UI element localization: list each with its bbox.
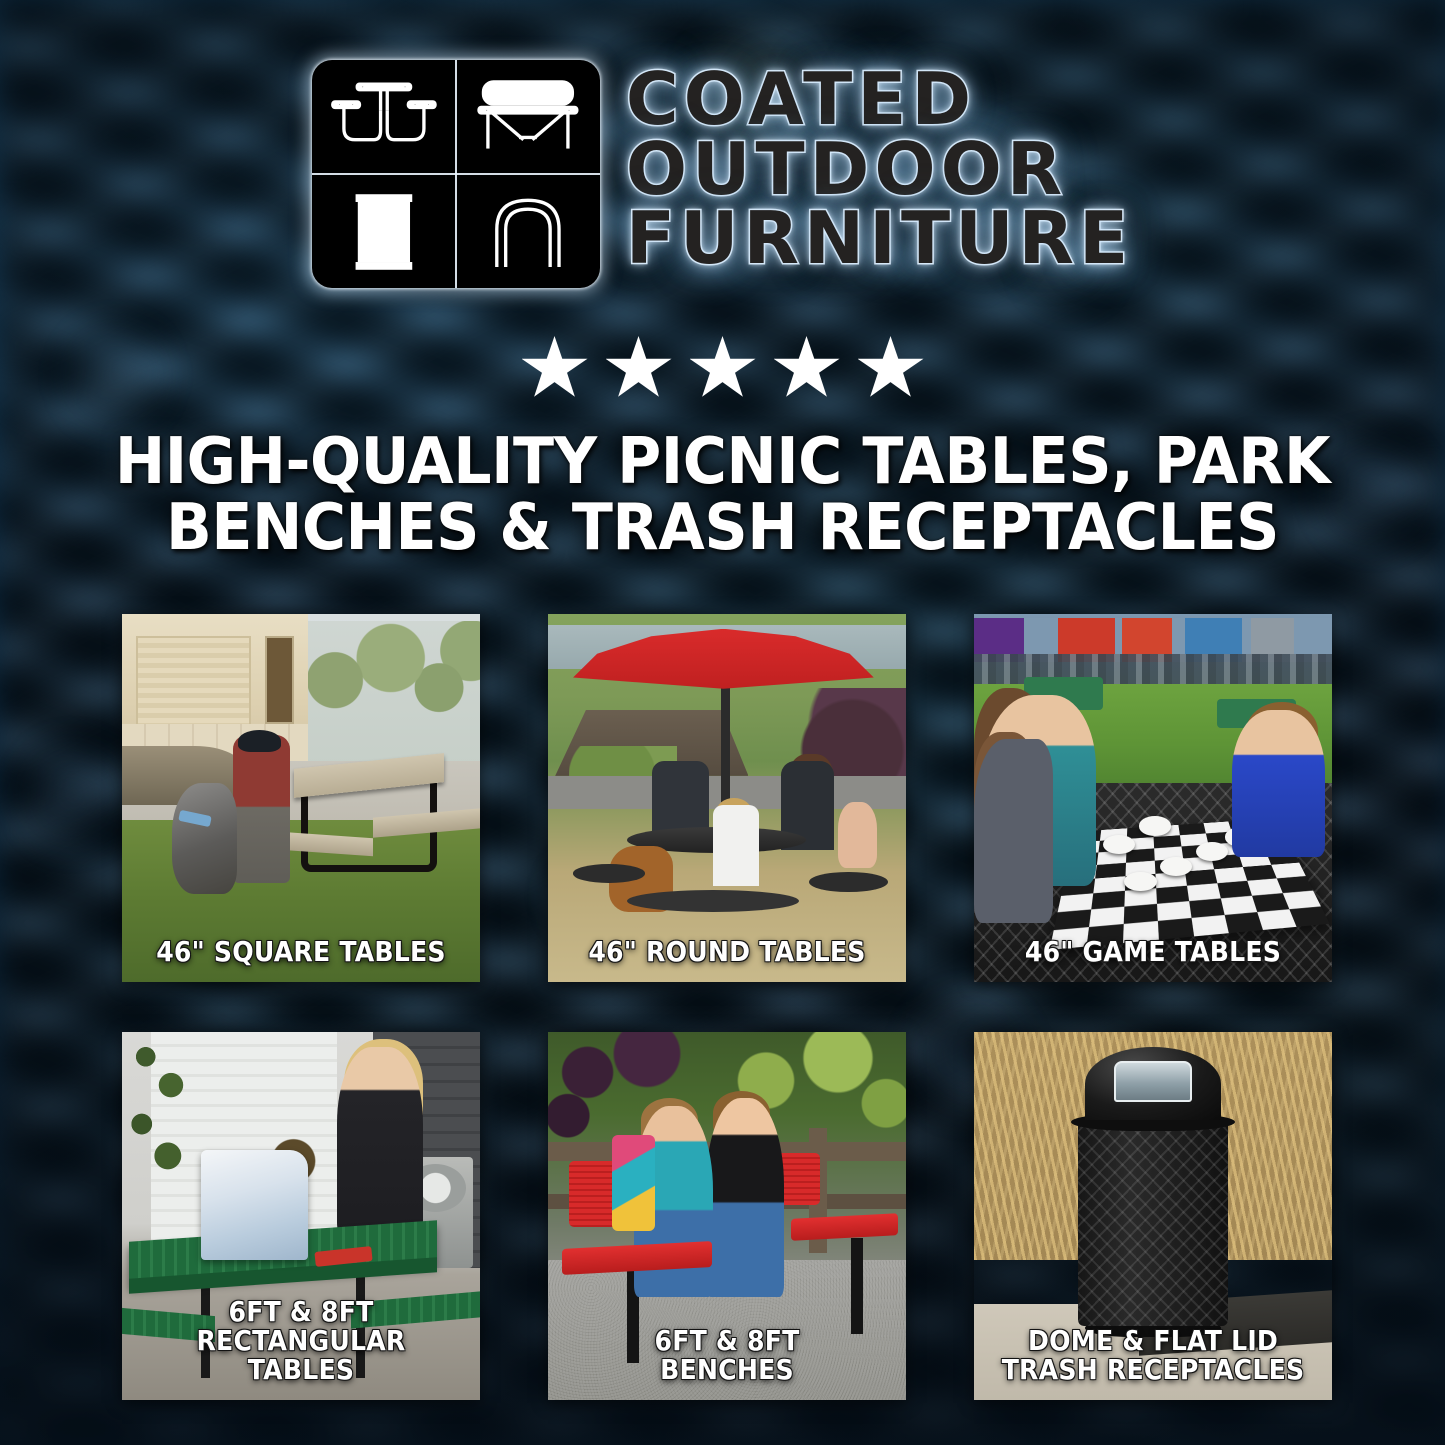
caption-line-1: 46" ROUND TABLES bbox=[571, 937, 882, 966]
product-tile-rectangular-tables[interactable]: 6FT & 8FT RECTANGULAR TABLES bbox=[122, 1032, 480, 1400]
product-tile-square-tables[interactable]: 46" SQUARE TABLES bbox=[122, 614, 480, 982]
product-grid: 46" SQUARE TABLES bbox=[122, 614, 1334, 1400]
caption-line-2: BENCHES bbox=[571, 1355, 882, 1384]
caption-line-1: 6FT & 8FT bbox=[145, 1297, 456, 1326]
product-caption-benches: 6FT & 8FT BENCHES bbox=[566, 1326, 888, 1384]
caption-line-1: 46" GAME TABLES bbox=[997, 937, 1308, 966]
headline: HIGH-QUALITY PICNIC TABLES, PARK BENCHES… bbox=[43, 430, 1401, 562]
product-tile-round-tables[interactable]: 46" ROUND TABLES bbox=[548, 614, 906, 982]
brand-wordmark: COATED OUTDOOR FURNITURE bbox=[626, 60, 1133, 273]
star-icon bbox=[774, 336, 840, 400]
caption-line-1: DOME & FLAT LID bbox=[997, 1326, 1308, 1355]
wordmark-line-2: OUTDOOR bbox=[626, 136, 1133, 204]
headline-line-2: BENCHES & TRASH RECEPTACLES bbox=[109, 496, 1336, 562]
advertisement-canvas: COATED OUTDOOR FURNITURE HIGH-QUALITY PI… bbox=[0, 0, 1445, 1445]
star-icon bbox=[606, 336, 672, 400]
caption-line-2: TRASH RECEPTACLES bbox=[997, 1355, 1308, 1384]
product-photo-square-tables bbox=[122, 614, 480, 982]
caption-line-1: 46" SQUARE TABLES bbox=[145, 937, 456, 966]
product-photo-game-tables bbox=[974, 614, 1332, 982]
brand-logo: COATED OUTDOOR FURNITURE bbox=[0, 60, 1445, 288]
product-caption-game-tables: 46" GAME TABLES bbox=[992, 937, 1314, 966]
caption-line-2: RECTANGULAR TABLES bbox=[145, 1326, 456, 1384]
logo-mark-grid bbox=[312, 60, 600, 288]
star-icon bbox=[522, 336, 588, 400]
bike-rack-icon bbox=[456, 174, 600, 288]
product-caption-trash-receptacles: DOME & FLAT LID TRASH RECEPTACLES bbox=[992, 1326, 1314, 1384]
star-icon bbox=[858, 336, 924, 400]
product-tile-trash-receptacles[interactable]: DOME & FLAT LID TRASH RECEPTACLES bbox=[974, 1032, 1332, 1400]
headline-line-1: HIGH-QUALITY PICNIC TABLES, PARK bbox=[109, 430, 1336, 496]
product-caption-rectangular-tables: 6FT & 8FT RECTANGULAR TABLES bbox=[140, 1297, 462, 1384]
product-photo-round-tables bbox=[548, 614, 906, 982]
product-caption-square-tables: 46" SQUARE TABLES bbox=[140, 937, 462, 966]
star-icon bbox=[690, 336, 756, 400]
star-rating bbox=[0, 336, 1445, 400]
product-caption-round-tables: 46" ROUND TABLES bbox=[566, 937, 888, 966]
trash-receptacle-icon bbox=[312, 174, 456, 288]
picnic-table-icon bbox=[312, 60, 456, 174]
bench-side-icon bbox=[456, 60, 600, 174]
wordmark-line-3: FURNITURE bbox=[626, 205, 1133, 273]
wordmark-line-1: COATED bbox=[626, 66, 1133, 134]
caption-line-1: 6FT & 8FT bbox=[571, 1326, 882, 1355]
product-tile-benches[interactable]: 6FT & 8FT BENCHES bbox=[548, 1032, 906, 1400]
product-tile-game-tables[interactable]: 46" GAME TABLES bbox=[974, 614, 1332, 982]
